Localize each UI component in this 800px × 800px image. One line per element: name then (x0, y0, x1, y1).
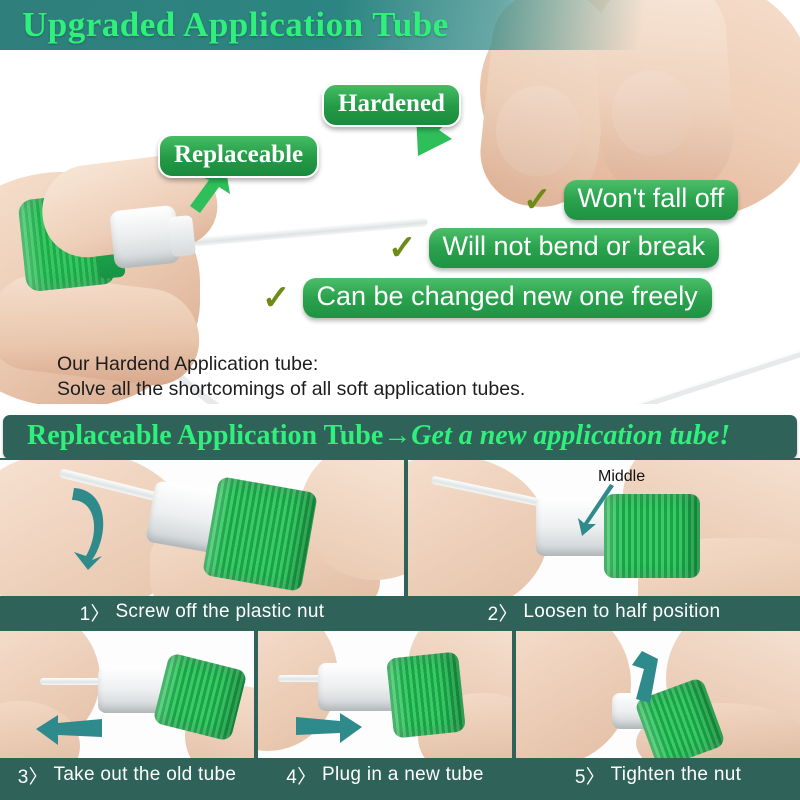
check-icon: ✓ (262, 281, 291, 315)
benefit-label-2: Will not bend or break (429, 228, 720, 268)
step-caption-text-3: Take out the old tube (54, 764, 237, 786)
page-title: Upgraded Application Tube (22, 5, 449, 45)
section-banner: Replaceable Application Tube→Get a new a… (3, 415, 797, 459)
step-photo-5 (516, 631, 800, 758)
step-caption-text-4: Plug in a new tube (322, 764, 484, 786)
step-photo-3 (0, 631, 254, 758)
infographic-page: Upgraded Application Tube Replaceable Ha… (0, 0, 800, 800)
rotate-arrow-icon (68, 484, 112, 570)
step-caption-text-1: Screw off the plastic nut (115, 601, 324, 623)
section-banner-text: Replaceable Application Tube→Get a new a… (27, 420, 730, 452)
step-caption-4: 4〉 Plug in a new tube (258, 758, 512, 792)
step-number-2: 2〉 (488, 599, 518, 626)
badge-hardened: Hardened (322, 83, 461, 127)
step-caption-text-2: Loosen to half position (523, 601, 720, 623)
check-icon: ✓ (523, 183, 552, 217)
hero-section: Upgraded Application Tube Replaceable Ha… (0, 0, 800, 404)
banner-emphasis-text: Get a new application tube! (411, 420, 730, 451)
benefit-row-2: ✓ Will not bend or break (388, 228, 719, 268)
arrow-right-icon (296, 711, 362, 745)
step-number-3: 3〉 (18, 762, 48, 789)
steps-grid: Middle 1〉 Screw off the plastic nut 2〉 L… (0, 458, 800, 800)
step-caption-5: 5〉 Tighten the nut (516, 758, 800, 792)
pointer-arrow-icon (574, 484, 616, 538)
step-caption-2: 2〉 Loosen to half position (408, 596, 800, 628)
lead-paragraph: Our Hardend Application tube: Solve all … (57, 352, 525, 402)
benefit-label-3: Can be changed new one freely (303, 278, 712, 318)
banner-main-text: Replaceable Application Tube (27, 420, 383, 451)
plastic-nut-tip (168, 215, 196, 257)
benefit-row-3: ✓ Can be changed new one freely (262, 278, 712, 318)
step-caption-text-5: Tighten the nut (611, 764, 742, 786)
benefit-row-1: ✓ Won't fall off (523, 180, 738, 220)
step-photo-1 (0, 460, 404, 596)
step-number-4: 4〉 (286, 762, 316, 789)
rotate-arrow-icon (628, 649, 664, 709)
step-caption-3: 3〉 Take out the old tube (0, 758, 254, 792)
benefit-label-1: Won't fall off (564, 180, 739, 220)
step-photo-4 (258, 631, 512, 758)
lead-line-2: Solve all the shortcomings of all soft a… (57, 377, 525, 402)
arrow-right-icon: → (383, 420, 411, 451)
step-caption-1: 1〉 Screw off the plastic nut (0, 596, 404, 628)
title-bar: Upgraded Application Tube (0, 0, 800, 50)
step-number-5: 5〉 (575, 762, 605, 789)
check-icon: ✓ (388, 231, 417, 265)
step-number-1: 1〉 (80, 599, 110, 626)
badge-replaceable: Replaceable (158, 134, 319, 178)
arrow-left-icon (36, 713, 102, 747)
step-photo-2: Middle (408, 460, 800, 596)
lead-line-1: Our Hardend Application tube: (57, 352, 525, 377)
